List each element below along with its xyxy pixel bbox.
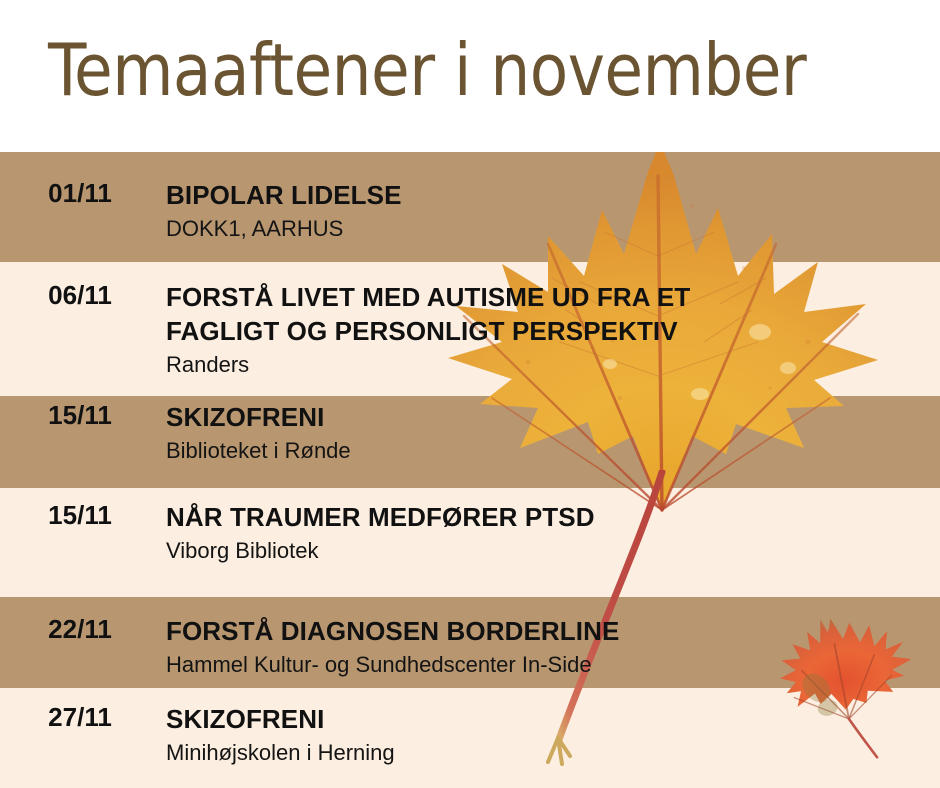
event-date: 15/11 (0, 500, 160, 531)
event-date: 06/11 (0, 280, 160, 311)
event-details: FORSTÅ LIVET MED AUTISME UD FRA ET FAGLI… (160, 280, 940, 380)
list-item[interactable]: 15/11 NÅR TRAUMER MEDFØRER PTSD Viborg B… (0, 500, 940, 566)
event-venue: Viborg Bibliotek (166, 536, 940, 566)
event-date: 22/11 (0, 614, 160, 645)
page-title: Temaaftener i november (48, 22, 806, 118)
event-details: BIPOLAR LIDELSE DOKK1, AARHUS (160, 178, 940, 244)
event-date: 01/11 (0, 178, 160, 209)
event-venue: Hammel Kultur- og Sundhedscenter In-Side (166, 650, 940, 680)
list-item[interactable]: 27/11 SKIZOFRENI Minihøjskolen i Herning (0, 702, 940, 768)
event-venue: Minihøjskolen i Herning (166, 738, 940, 768)
event-date: 27/11 (0, 702, 160, 733)
title-area: Temaaftener i november (0, 0, 940, 152)
event-title: FORSTÅ LIVET MED AUTISME UD FRA ET FAGLI… (166, 280, 940, 348)
event-title: BIPOLAR LIDELSE (166, 178, 940, 212)
event-details: SKIZOFRENI Biblioteket i Rønde (160, 400, 940, 466)
event-date: 15/11 (0, 400, 160, 431)
event-title: FORSTÅ DIAGNOSEN BORDERLINE (166, 614, 940, 648)
event-title: SKIZOFRENI (166, 702, 940, 736)
event-venue: Biblioteket i Rønde (166, 436, 940, 466)
poster-canvas: Temaaftener i november 01/11 BIPOLAR LID… (0, 0, 940, 788)
event-venue: DOKK1, AARHUS (166, 214, 940, 244)
event-list: 01/11 BIPOLAR LIDELSE DOKK1, AARHUS 06/1… (0, 152, 940, 788)
event-title: NÅR TRAUMER MEDFØRER PTSD (166, 500, 940, 534)
event-details: FORSTÅ DIAGNOSEN BORDERLINE Hammel Kultu… (160, 614, 940, 680)
event-details: SKIZOFRENI Minihøjskolen i Herning (160, 702, 940, 768)
list-item[interactable]: 15/11 SKIZOFRENI Biblioteket i Rønde (0, 400, 940, 466)
list-item[interactable]: 22/11 FORSTÅ DIAGNOSEN BORDERLINE Hammel… (0, 614, 940, 680)
event-title: SKIZOFRENI (166, 400, 940, 434)
list-item[interactable]: 01/11 BIPOLAR LIDELSE DOKK1, AARHUS (0, 178, 940, 244)
event-details: NÅR TRAUMER MEDFØRER PTSD Viborg Bibliot… (160, 500, 940, 566)
event-venue: Randers (166, 350, 940, 380)
list-item[interactable]: 06/11 FORSTÅ LIVET MED AUTISME UD FRA ET… (0, 280, 940, 380)
